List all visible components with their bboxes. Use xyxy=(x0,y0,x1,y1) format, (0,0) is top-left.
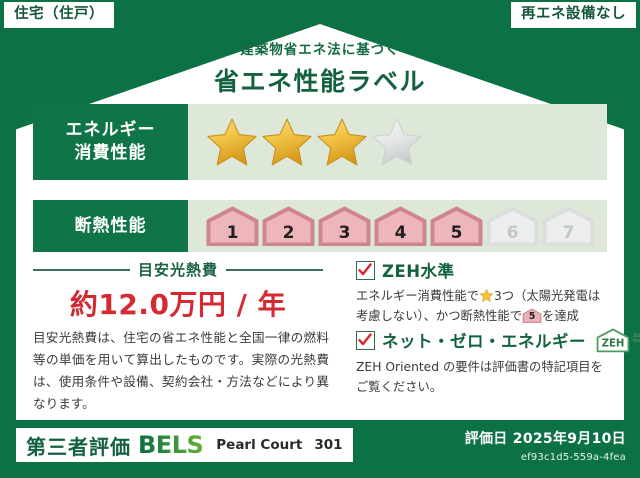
insulation-level-filled: 2 xyxy=(262,206,315,246)
insulation-label-text: 断熱性能 xyxy=(75,215,147,238)
evaluation-date-label: 評価日 xyxy=(465,431,508,447)
insulation-performance-label: 断熱性能 xyxy=(33,200,188,252)
divider-line-right xyxy=(226,269,323,271)
insulation-level-filled: 3 xyxy=(318,206,371,246)
property-name: Pearl Court xyxy=(216,437,302,453)
bels-logo-text: BELS xyxy=(138,431,203,459)
net-zero-energy-description: ZEH Oriented の要件は評価書の特記項目をご覧ください。 xyxy=(356,358,610,398)
insulation-performance-value: 1234567 xyxy=(188,200,607,252)
zeh-standard-header: ZEH水準 xyxy=(356,258,610,282)
bels-footer: 第三者評価 BELS Pearl Court 301 xyxy=(16,428,353,462)
star-rating xyxy=(206,116,423,168)
insulation-level-number: 4 xyxy=(395,225,407,246)
divider-line-left xyxy=(33,269,130,271)
insulation-level-empty: 6 xyxy=(486,206,539,246)
star-empty-icon xyxy=(371,116,423,168)
energy-performance-label: エネルギー 消費性能 xyxy=(33,104,188,180)
inline-star-icon xyxy=(479,288,494,303)
utility-cost-note: 目安光熱費は、住宅の省エネ性能と全国一律の燃料等の単価を用いて算出したものです。… xyxy=(33,327,329,415)
zeh-desc-part-3: を達成 xyxy=(542,309,579,323)
checkbox-checked-icon xyxy=(356,261,375,280)
svg-text:ZEH: ZEH xyxy=(602,339,625,350)
zeh-logo-sub-2: Oriented xyxy=(633,339,640,344)
inline-level-5-text: 5 xyxy=(522,308,542,323)
column-separator xyxy=(341,258,342,398)
insulation-level-number: 1 xyxy=(227,225,239,246)
inline-level-5-badge: 5 xyxy=(522,308,542,323)
star-filled-icon xyxy=(261,116,313,168)
insulation-level-number: 6 xyxy=(507,225,519,246)
energy-label-line-2: 消費性能 xyxy=(75,142,147,165)
building-type-badge: 住宅（住戸） xyxy=(4,2,114,28)
energy-performance-row: エネルギー 消費性能 xyxy=(33,104,607,180)
checkbox-checked-icon-2 xyxy=(356,331,375,350)
net-zero-energy-title: ネット・ゼロ・エネルギー xyxy=(382,328,586,352)
evaluation-info: 評価日 2025年9月10日 ef93c1d5-559a-4fea xyxy=(465,428,626,463)
insulation-level-number: 2 xyxy=(283,225,295,246)
zeh-standard-description: エネルギー消費性能で3つ（太陽光発電は考慮しない）、かつ断熱性能で5を達成 xyxy=(356,287,610,327)
zeh-oriented-logo: ZEH ZEH Oriented xyxy=(594,327,640,353)
utility-cost-heading: 目安光熱費 xyxy=(33,259,323,280)
zeh-desc-part-1: エネルギー消費性能で xyxy=(356,289,479,303)
zeh-oriented-sub: ZEH Oriented xyxy=(633,335,640,345)
net-zero-energy-block: ネット・ゼロ・エネルギー ZEH ZEH Oriented ZEH Orient… xyxy=(356,327,610,398)
insulation-level-scale: 1234567 xyxy=(206,206,595,246)
zeh-standard-block: ZEH水準 エネルギー消費性能で3つ（太陽光発電は考慮しない）、かつ断熱性能で5… xyxy=(356,258,610,327)
insulation-level-filled: 1 xyxy=(206,206,259,246)
renewable-energy-badge: 再エネ設備なし xyxy=(511,2,636,28)
zeh-standard-title: ZEH水準 xyxy=(382,258,455,282)
evaluation-date-line: 評価日 2025年9月10日 xyxy=(465,428,626,448)
unit-number: 301 xyxy=(314,437,342,453)
insulation-level-number: 3 xyxy=(339,225,351,246)
insulation-performance-row: 断熱性能 1234567 xyxy=(33,200,607,252)
star-filled-icon xyxy=(316,116,368,168)
utility-cost-heading-text: 目安光熱費 xyxy=(138,259,218,280)
bels-energy-label: 住宅（住戸） 再エネ設備なし 建築物省エネ法に基づく 省エネ性能ラベル エネルギ… xyxy=(0,0,640,478)
insulation-level-filled: 4 xyxy=(374,206,427,246)
evaluation-date-value: 2025年9月10日 xyxy=(513,431,626,447)
utility-cost-value: 約12.0万円 / 年 xyxy=(33,283,323,323)
third-party-evaluation-text: 第三者評価 xyxy=(26,431,131,460)
insulation-level-empty: 7 xyxy=(542,206,595,246)
evaluation-id: ef93c1d5-559a-4fea xyxy=(465,452,626,463)
energy-label-line-1: エネルギー xyxy=(66,119,156,142)
energy-performance-value xyxy=(188,104,607,180)
net-zero-energy-header: ネット・ゼロ・エネルギー ZEH ZEH Oriented xyxy=(356,327,610,353)
insulation-level-number: 5 xyxy=(451,225,463,246)
star-filled-icon xyxy=(206,116,258,168)
insulation-level-filled: 5 xyxy=(430,206,483,246)
insulation-level-number: 7 xyxy=(563,225,575,246)
